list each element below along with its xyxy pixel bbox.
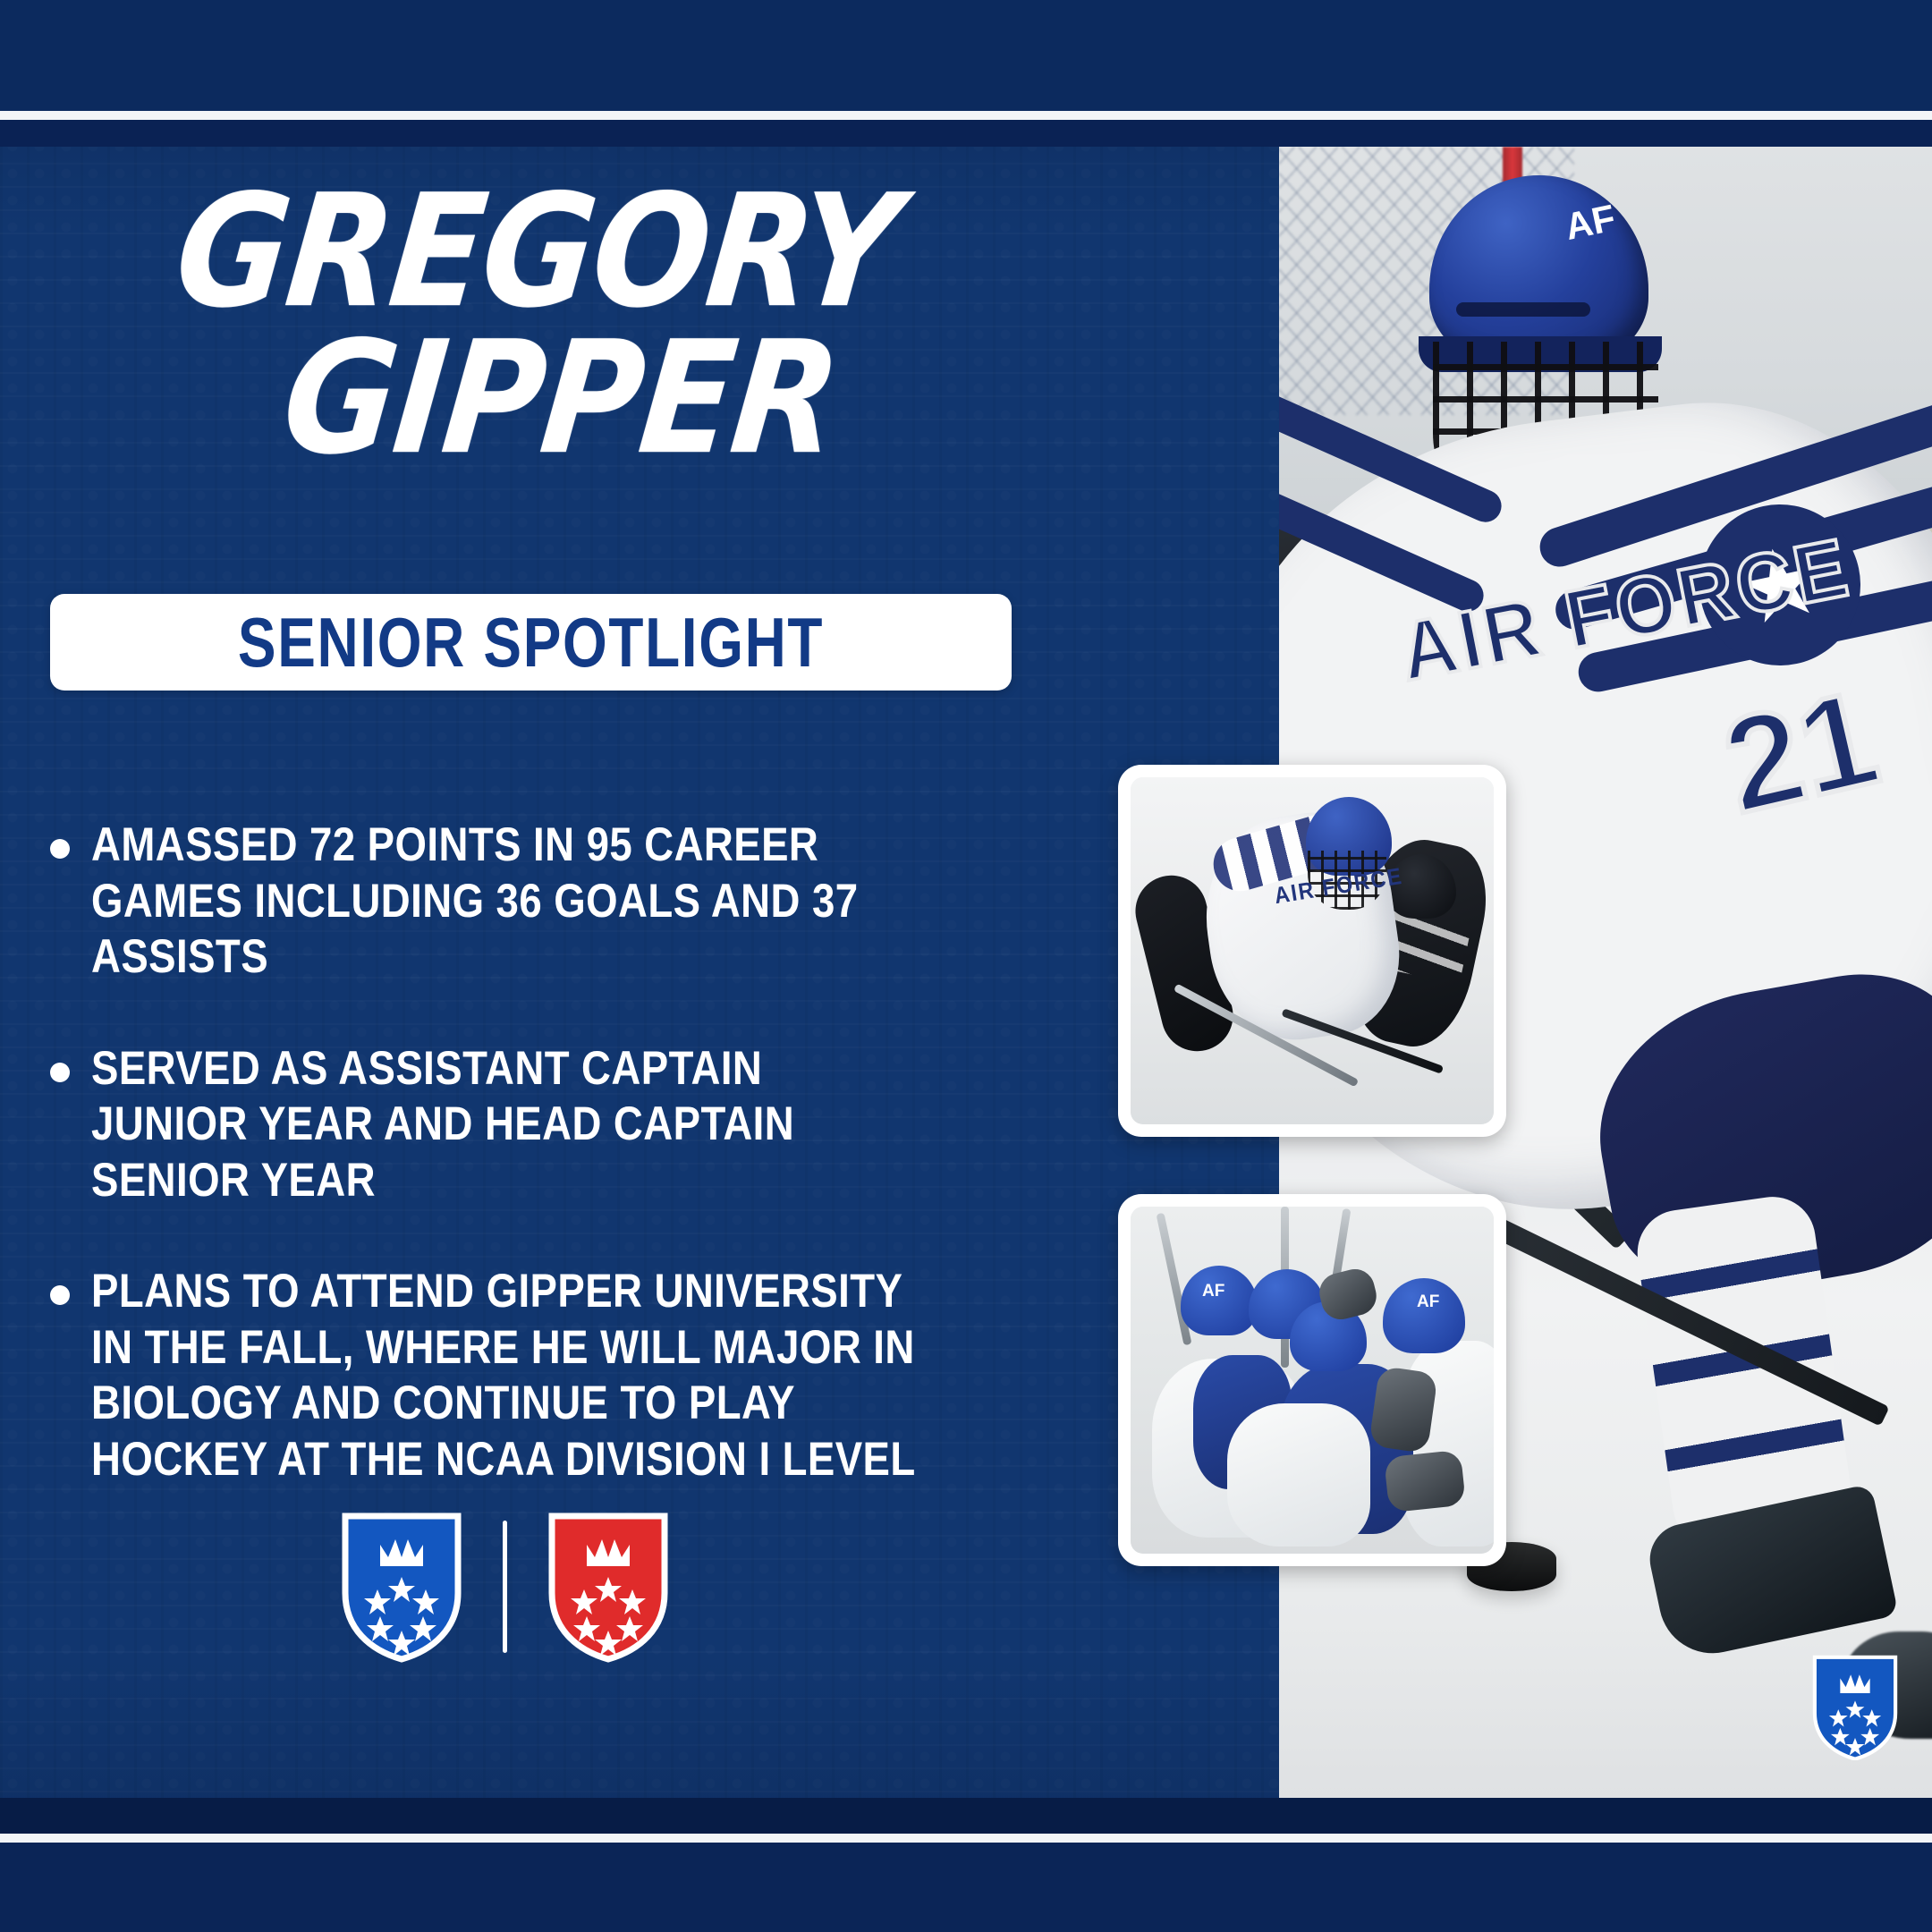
inset-photo-battling-for-puck: AIR FORCE: [1118, 765, 1506, 1137]
school-shield-blue-icon: [340, 1511, 463, 1663]
bullet-dot-icon: [50, 1285, 70, 1305]
inset2-glove: [1368, 1366, 1438, 1453]
gipper-shield-watermark-icon: [1812, 1655, 1898, 1760]
inset2-glove: [1384, 1450, 1466, 1513]
top-frame-white-rule: [0, 111, 1932, 120]
top-frame-inner-band: [0, 120, 1932, 147]
inset2-player-body: [1227, 1403, 1370, 1546]
achievement-bullet-list: AMASSED 72 POINTS IN 95 CAREER GAMES INC…: [50, 818, 1052, 1543]
athlete-last-name: GIPPER: [277, 327, 1259, 470]
senior-spotlight-label: SENIOR SPOTLIGHT: [238, 607, 824, 677]
bullet-dot-icon: [50, 1063, 70, 1082]
helmet-vent: [1456, 302, 1590, 317]
athlete-name: GREGORY GIPPER: [170, 200, 1225, 470]
senior-spotlight-poster: GREGORY GIPPER SENIOR SPOTLIGHT AMASSED …: [0, 0, 1932, 1932]
bottom-frame-inner-band: [0, 1843, 1932, 1932]
bottom-frame-band: [0, 1798, 1932, 1834]
inset-photo-team-celebration: AF AF: [1118, 1194, 1506, 1566]
logo-divider: [503, 1521, 507, 1653]
bullet-text: SERVED AS ASSISTANT CAPTAIN JUNIOR YEAR …: [91, 1041, 918, 1209]
athlete-first-name: GREGORY: [170, 181, 1261, 324]
bullet-dot-icon: [50, 839, 70, 859]
school-shield-red-icon: [547, 1511, 670, 1663]
left-content-column: GREGORY GIPPER SENIOR SPOTLIGHT AMASSED …: [0, 147, 1279, 1798]
bullet-text: AMASSED 72 POINTS IN 95 CAREER GAMES INC…: [91, 818, 918, 986]
bullet-text: PLANS TO ATTEND GIPPER UNIVERSITY IN THE…: [91, 1264, 918, 1487]
senior-spotlight-banner: SENIOR SPOTLIGHT: [50, 594, 1012, 691]
logo-lockup: [340, 1511, 670, 1663]
helmet-af-mark: AF: [1561, 199, 1608, 249]
list-item: SERVED AS ASSISTANT CAPTAIN JUNIOR YEAR …: [50, 1041, 1052, 1209]
top-frame-band: [0, 0, 1932, 111]
list-item: AMASSED 72 POINTS IN 95 CAREER GAMES INC…: [50, 818, 1052, 986]
inset2-helmet-af-mark: AF: [1417, 1292, 1439, 1312]
bottom-frame-white-rule: [0, 1834, 1932, 1843]
list-item: PLANS TO ATTEND GIPPER UNIVERSITY IN THE…: [50, 1264, 1052, 1487]
inset2-helmet-af-mark: AF: [1202, 1282, 1224, 1301]
